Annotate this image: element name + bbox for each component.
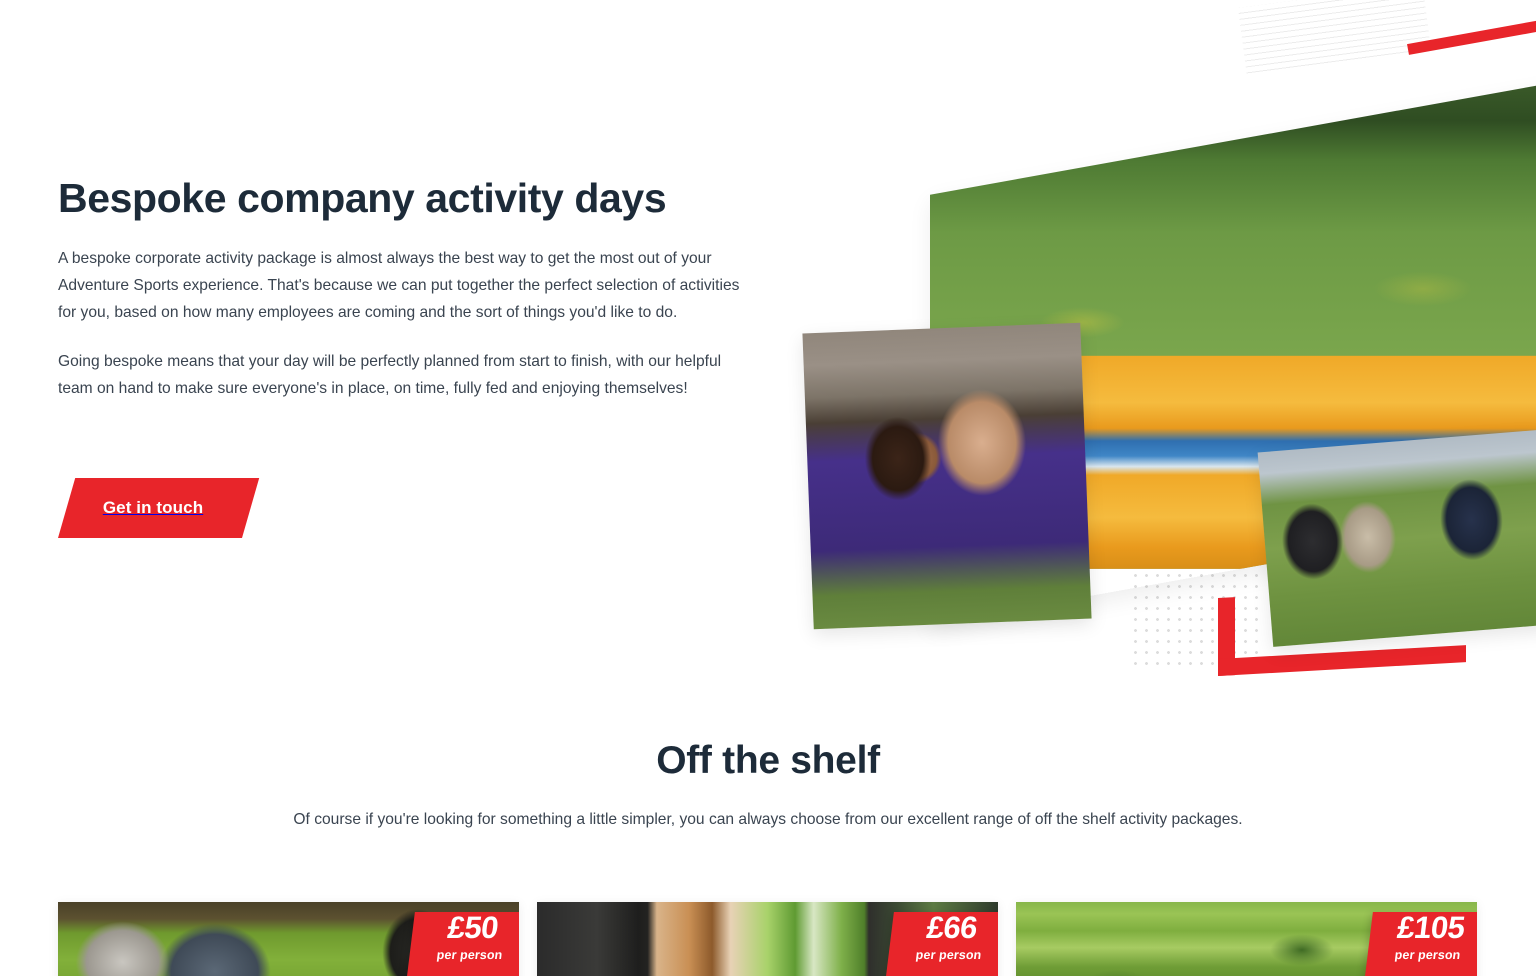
price-badge: £50 per person (403, 912, 519, 976)
price-amount: £50 (411, 912, 519, 945)
hero-paragraph-2: Going bespoke means that your day will b… (58, 349, 748, 403)
package-card-list: £50 per person £66 per person (58, 902, 1478, 976)
price-amount: £66 (890, 912, 998, 945)
section-subtitle: Of course if you're looking for somethin… (288, 807, 1248, 832)
price-amount: £105 (1369, 912, 1477, 945)
decorative-stripes (1238, 0, 1431, 75)
hero-copy: Bespoke company activity days A bespoke … (58, 176, 758, 402)
section-title: Off the shelf (0, 740, 1536, 783)
page-title: Bespoke company activity days (58, 176, 758, 220)
cta-wrapper: Get in touch (58, 478, 242, 538)
price-badge: £66 per person (882, 912, 998, 976)
hero-section: Bespoke company activity days A bespoke … (0, 0, 1536, 700)
price-badge: £105 per person (1361, 912, 1477, 976)
red-accent-horizontal (1218, 645, 1466, 676)
package-card[interactable]: £50 per person (58, 902, 519, 976)
get-in-touch-label: Get in touch (58, 478, 242, 538)
price-unit: per person (409, 949, 519, 963)
hero-photo-archery-image (802, 323, 1091, 629)
package-card[interactable]: £105 per person (1016, 902, 1477, 976)
hero-photo-team-building (1258, 430, 1536, 647)
hero-photo-team-building-image (1258, 430, 1536, 647)
price-unit: per person (1367, 949, 1477, 963)
hero-image-collage (740, 0, 1536, 700)
hero-photo-archery (802, 323, 1091, 629)
package-card[interactable]: £66 per person (537, 902, 998, 976)
get-in-touch-button[interactable]: Get in touch (58, 478, 242, 538)
off-the-shelf-section: Off the shelf Of course if you're lookin… (0, 740, 1536, 832)
price-unit: per person (888, 949, 998, 963)
page-root: Bespoke company activity days A bespoke … (0, 0, 1536, 976)
hero-paragraph-1: A bespoke corporate activity package is … (58, 246, 748, 326)
